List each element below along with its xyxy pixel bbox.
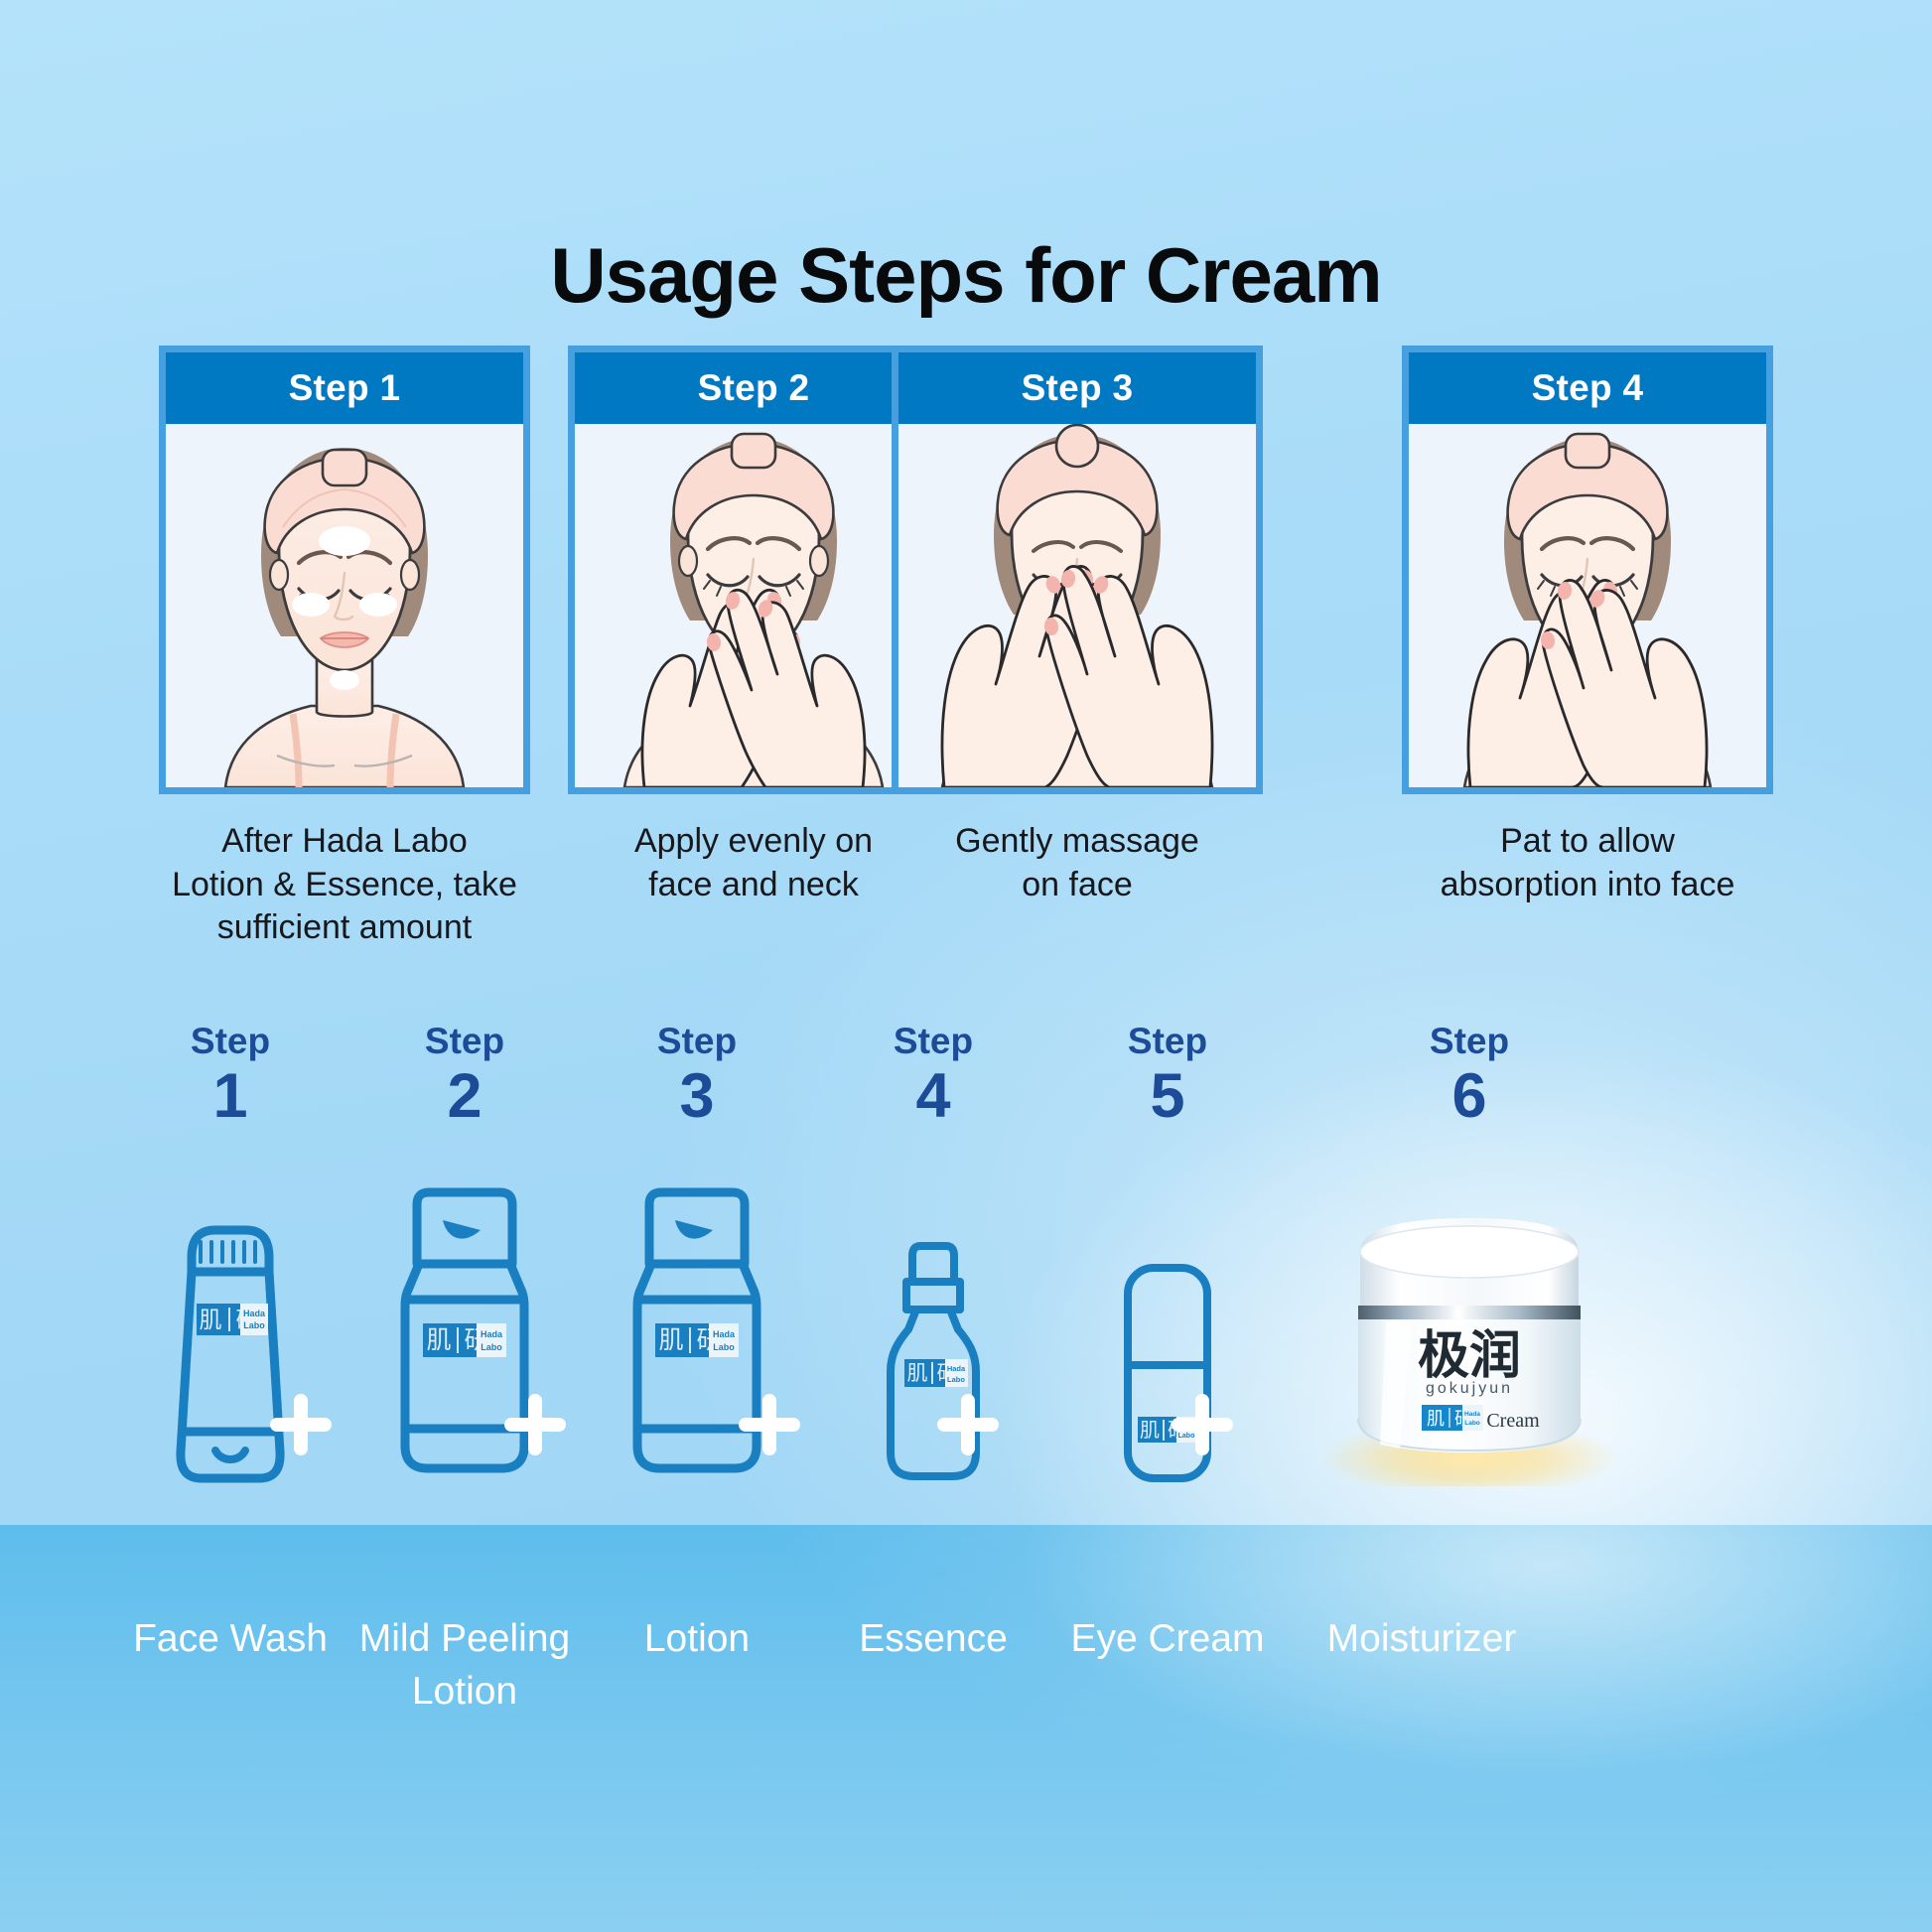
routine-step-word: Step — [814, 1023, 1052, 1060]
woman-hands-jaw-illustration — [1409, 424, 1766, 787]
svg-text:Hada: Hada — [243, 1309, 266, 1318]
routine-step-word: Step — [1291, 1023, 1648, 1060]
usage-card-header: Step 3 — [898, 352, 1256, 424]
usage-card-1: Step 1 — [159, 345, 530, 950]
product-routine-row: Step 1 肌 研 Hada — [0, 1023, 1932, 1579]
usage-card-frame: Step 2 — [568, 345, 939, 794]
usage-card-4: Step 4 — [1402, 345, 1773, 906]
woman-hands-forehead-illustration — [898, 424, 1256, 787]
plus-icon-5 — [1168, 1390, 1237, 1459]
routine-slot-6[interactable]: Step 6 — [1291, 1023, 1648, 1486]
svg-text:Labo: Labo — [1464, 1420, 1480, 1427]
routine-step-word: Step — [578, 1023, 816, 1060]
svg-text:Labo: Labo — [947, 1375, 965, 1384]
usage-card-header: Step 2 — [575, 352, 932, 424]
usage-card-frame: Step 3 — [892, 345, 1263, 794]
woman-hands-cheeks-illustration — [575, 424, 932, 787]
product-name-essence: Essence — [799, 1613, 1067, 1666]
product-name-moisturizer: Moisturizer — [1288, 1613, 1556, 1666]
cream-jar-photo[interactable]: 极润 gokujyun 肌 研 Hada Labo Cream — [1291, 1159, 1648, 1486]
product-name-mild-peeling-lotion: Mild PeelingLotion — [331, 1613, 599, 1718]
jar-cn-label: 极润 — [1418, 1327, 1521, 1385]
svg-text:Hada: Hada — [481, 1329, 503, 1339]
plus-icon-3 — [735, 1390, 804, 1459]
product-name-lotion: Lotion — [563, 1613, 831, 1666]
jar-type-label: Cream — [1486, 1410, 1540, 1432]
routine-step-word: Step — [1048, 1023, 1287, 1060]
usage-card-frame: Step 4 — [1402, 345, 1773, 794]
usage-steps-row: Step 1 — [0, 345, 1932, 961]
svg-text:肌: 肌 — [1427, 1409, 1445, 1429]
routine-step-number: 5 — [1048, 1062, 1287, 1131]
svg-text:肌: 肌 — [658, 1326, 683, 1354]
product-names-row: Face Wash Mild PeelingLotion Lotion Esse… — [0, 1613, 1932, 1812]
page-title: Usage Steps for Cream — [0, 230, 1932, 321]
svg-text:Hada: Hada — [713, 1329, 736, 1339]
usage-card-caption: After Hada LaboLotion & Essence, takesuf… — [159, 820, 530, 950]
product-name-eye-cream: Eye Cream — [1034, 1613, 1302, 1666]
routine-step-number: 4 — [814, 1062, 1052, 1131]
usage-card-caption: Gently massageon face — [892, 820, 1263, 906]
svg-text:Hada: Hada — [1464, 1411, 1480, 1418]
routine-step-number: 2 — [345, 1062, 584, 1131]
routine-step-number: 1 — [111, 1062, 349, 1131]
svg-text:肌: 肌 — [200, 1307, 222, 1332]
usage-card-3: Step 3 — [892, 345, 1263, 906]
svg-text:肌: 肌 — [426, 1326, 451, 1354]
svg-text:Labo: Labo — [713, 1342, 735, 1352]
routine-step-word: Step — [111, 1023, 349, 1060]
jar-romaji-label: gokujyun — [1426, 1380, 1513, 1397]
woman-cream-dots-illustration — [166, 424, 523, 787]
usage-card-2: Step 2 — [568, 345, 939, 906]
usage-card-header: Step 1 — [166, 352, 523, 424]
svg-text:肌: 肌 — [1140, 1420, 1160, 1442]
plus-icon-4 — [933, 1390, 1003, 1459]
svg-text:肌: 肌 — [907, 1362, 928, 1385]
plus-icon-1 — [266, 1390, 336, 1459]
plus-icon-2 — [500, 1390, 570, 1459]
usage-card-caption: Pat to allowabsorption into face — [1402, 820, 1773, 906]
product-name-face-wash: Face Wash — [96, 1613, 364, 1666]
svg-text:Hada: Hada — [947, 1364, 966, 1373]
routine-step-number: 6 — [1291, 1062, 1648, 1131]
usage-card-header: Step 4 — [1409, 352, 1766, 424]
usage-card-caption: Apply evenly onface and neck — [568, 820, 939, 906]
svg-text:Labo: Labo — [481, 1342, 502, 1352]
routine-step-number: 3 — [578, 1062, 816, 1131]
svg-text:Labo: Labo — [243, 1320, 265, 1330]
usage-card-frame: Step 1 — [159, 345, 530, 794]
routine-step-word: Step — [345, 1023, 584, 1060]
